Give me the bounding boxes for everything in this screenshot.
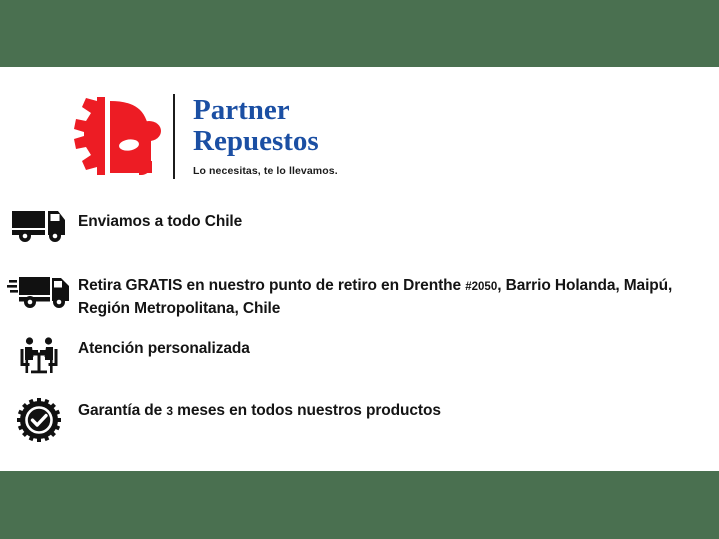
warranty-month-count: 3 [166, 404, 173, 418]
brand-text-block: Partner Repuestos Lo necesitas, te lo ll… [193, 95, 338, 178]
top-green-band [0, 0, 719, 67]
delivery-truck-icon [0, 207, 78, 243]
pickup-text-before: Retira GRATIS en nuestro punto de retiro… [78, 277, 465, 294]
moving-truck-icon [0, 271, 78, 309]
people-at-table-icon [0, 334, 78, 376]
feature-label-support: Atención personalizada [78, 334, 719, 360]
feature-label-warranty: Garantía de 3 meses en todos nuestros pr… [78, 396, 719, 422]
brand-divider [173, 94, 175, 179]
bottom-green-band [0, 471, 719, 539]
feature-label-pickup: Retira GRATIS en nuestro punto de retiro… [78, 271, 719, 320]
warranty-text-after: meses en todos nuestros productos [173, 402, 441, 419]
feature-item-shipping: Enviamos a todo Chile [0, 207, 719, 251]
feature-label-shipping: Enviamos a todo Chile [78, 207, 719, 233]
pickup-street-number: #2050 [465, 281, 497, 293]
warranty-text-before: Garantía de [78, 402, 166, 419]
brand-header: Partner Repuestos Lo necesitas, te lo ll… [55, 93, 338, 179]
guarantee-badge-check-icon [0, 396, 78, 442]
promo-banner: Partner Repuestos Lo necesitas, te lo ll… [0, 0, 719, 539]
feature-item-pickup: Retira GRATIS en nuestro punto de retiro… [0, 271, 719, 320]
feature-list: Enviamos a todo Chile [0, 207, 719, 442]
brand-tagline: Lo necesitas, te lo llevamos. [193, 164, 338, 178]
content-card: Partner Repuestos Lo necesitas, te lo ll… [0, 67, 719, 471]
feature-item-support: Atención personalizada [0, 334, 719, 378]
brand-name-line-1: Partner [193, 95, 338, 126]
feature-item-warranty: Garantía de 3 meses en todos nuestros pr… [0, 396, 719, 442]
gear-car-logo-icon [55, 93, 167, 179]
brand-name-line-2: Repuestos [193, 126, 338, 157]
